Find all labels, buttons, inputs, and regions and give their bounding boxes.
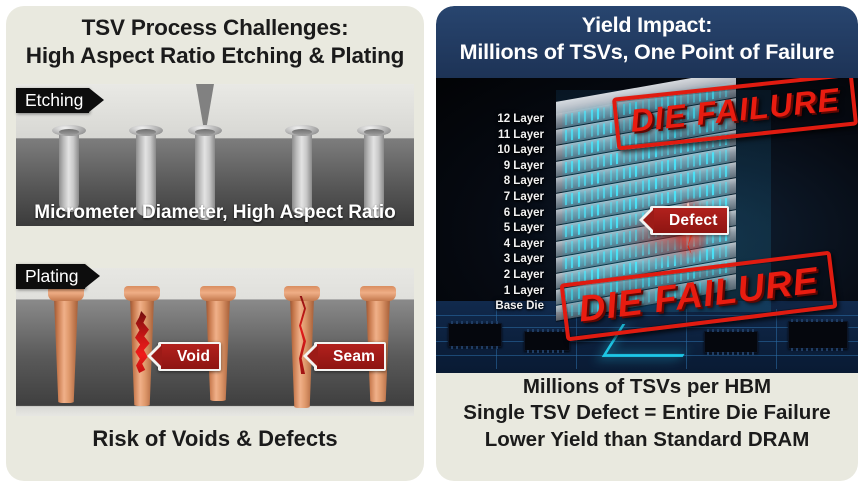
tsv-pillar xyxy=(591,189,593,200)
tsv-pillar xyxy=(597,204,599,215)
tsv-pillar xyxy=(603,107,605,118)
via-overburden-cap xyxy=(360,286,396,301)
tsv-pillar xyxy=(648,195,650,206)
tsv-pillar xyxy=(699,186,701,197)
tsv-pillar xyxy=(629,167,631,178)
tsv-pillar xyxy=(667,144,669,155)
tsv-pillar xyxy=(616,153,618,164)
defect-callout: Defect xyxy=(650,206,729,235)
layer-label: Base Die xyxy=(444,299,544,315)
layer-label: 10 Layer xyxy=(444,143,544,159)
tsv-pillar xyxy=(725,150,727,161)
tsv-pillar xyxy=(603,251,605,262)
void-callout-label: Void xyxy=(177,348,210,366)
tsv-pillar xyxy=(603,267,605,278)
tsv-pillar xyxy=(603,235,605,246)
tsv-pillar xyxy=(661,145,663,156)
tsv-pillar xyxy=(578,224,580,235)
tsv-pillar xyxy=(719,183,721,194)
plating-banner: Plating xyxy=(16,264,85,289)
tsv-pillar xyxy=(706,169,708,180)
callout-arrow-inner-icon xyxy=(643,209,654,231)
tsv-pillar xyxy=(655,146,657,157)
tsv-pillar xyxy=(578,240,580,251)
tsv-pillar xyxy=(687,156,689,167)
tsv-pillar xyxy=(603,139,605,150)
void-callout: Void xyxy=(158,342,221,371)
tsv-pillar xyxy=(597,268,599,279)
tsv-pillar xyxy=(648,147,650,158)
tsv-pillar xyxy=(610,250,612,261)
tsv-pillar xyxy=(635,166,637,177)
via-overburden-cap xyxy=(200,286,236,301)
pcb-chip xyxy=(788,321,848,349)
tsv-pillar xyxy=(591,205,593,216)
tsv-pillar xyxy=(661,193,663,204)
tsv-pillar xyxy=(603,171,605,182)
via-rim xyxy=(188,125,222,136)
tsv-pillar xyxy=(725,246,727,257)
via-rim xyxy=(357,125,391,136)
tsv-pillar xyxy=(712,168,714,179)
etching-banner: Etching xyxy=(16,88,89,113)
right-caption-line-2: Single TSV Defect = Entire Die Failure xyxy=(436,400,858,426)
tsv-pillar xyxy=(571,241,573,252)
tsv-pillar xyxy=(571,193,573,204)
right-caption-line-3: Lower Yield than Standard DRAM xyxy=(436,427,858,453)
via-rim xyxy=(285,125,319,136)
layer-label: 9 Layer xyxy=(444,159,544,175)
tsv-pillar xyxy=(642,164,644,175)
tsv-pillar xyxy=(616,169,618,180)
tsv-pillar xyxy=(578,128,580,139)
tsv-pillar xyxy=(667,176,669,187)
tsv-pillar xyxy=(680,174,682,185)
left-title-line-1: TSV Process Challenges: xyxy=(6,14,424,42)
tsv-pillar xyxy=(610,186,612,197)
tsv-pillar xyxy=(693,187,695,198)
tsv-pillar xyxy=(603,203,605,214)
tsv-pillar xyxy=(623,168,625,179)
via-rim xyxy=(129,125,163,136)
tsv-pillar xyxy=(565,194,567,205)
right-title-line-1: Yield Impact: xyxy=(436,12,858,39)
tsv-pillar xyxy=(725,166,727,177)
tsv-pillar xyxy=(571,161,573,172)
tsv-pillar xyxy=(578,144,580,155)
layer-label: 4 Layer xyxy=(444,237,544,253)
tsv-pillar xyxy=(571,257,573,268)
tsv-pillar xyxy=(565,178,567,189)
tsv-pillar xyxy=(629,151,631,162)
layer-label: 12 Layer xyxy=(444,112,544,128)
tsv-pillar xyxy=(623,152,625,163)
tsv-pillar xyxy=(591,237,593,248)
tsv-pillar xyxy=(591,157,593,168)
tsv-pillar xyxy=(655,194,657,205)
tsv-pillar xyxy=(591,173,593,184)
layer-label: 7 Layer xyxy=(444,190,544,206)
tsv-pillar xyxy=(610,218,612,229)
tsv-pillar xyxy=(584,223,586,234)
tsv-pillar xyxy=(667,160,669,171)
tsv-pillar xyxy=(597,236,599,247)
tsv-pillar xyxy=(699,170,701,181)
tsv-pillar xyxy=(706,185,708,196)
tsv-pillar xyxy=(584,191,586,202)
tsv-pillar xyxy=(725,182,727,193)
via-rim xyxy=(52,125,86,136)
pcb-chip xyxy=(704,331,758,353)
etched-via xyxy=(59,130,79,212)
tsv-pillar xyxy=(584,111,586,122)
callout-arrow-inner-icon xyxy=(307,345,318,367)
right-bottom-caption: Millions of TSVs per HBM Single TSV Defe… xyxy=(436,374,858,453)
tsv-pillar xyxy=(642,148,644,159)
tsv-pillar xyxy=(578,176,580,187)
tsv-pillar xyxy=(571,129,573,140)
hbm-stack-scene: 12 Layer11 Layer10 Layer9 Layer8 Layer7 … xyxy=(436,78,858,373)
layer-label: 11 Layer xyxy=(444,128,544,144)
layer-label: 2 Layer xyxy=(444,268,544,284)
tsv-pillar xyxy=(584,127,586,138)
tsv-pillar xyxy=(584,239,586,250)
tsv-pillar xyxy=(610,154,612,165)
tsv-pillar xyxy=(687,172,689,183)
tsv-pillar xyxy=(674,175,676,186)
tsv-pillar xyxy=(712,184,714,195)
tsv-pillar xyxy=(591,125,593,136)
left-title-line-2: High Aspect Ratio Etching & Plating xyxy=(6,42,424,70)
tsv-pillar xyxy=(565,226,567,237)
tsv-pillar xyxy=(578,160,580,171)
tsv-pillar xyxy=(584,143,586,154)
tsv-pillar xyxy=(584,255,586,266)
tsv-pillar xyxy=(565,242,567,253)
tsv-pillar xyxy=(565,146,567,157)
tsv-pillar xyxy=(578,256,580,267)
pcb-chip xyxy=(448,323,502,347)
tsv-pillar xyxy=(565,162,567,173)
infographic-slide: TSV Process Challenges: High Aspect Rati… xyxy=(0,0,864,487)
tsv-pillar xyxy=(603,187,605,198)
tsv-pillar xyxy=(616,265,618,276)
tsv-pillar xyxy=(597,220,599,231)
tsv-pillar xyxy=(571,145,573,156)
tsv-pillar xyxy=(584,175,586,186)
tsv-pillar xyxy=(648,179,650,190)
tsv-pillar xyxy=(616,185,618,196)
left-panel: TSV Process Challenges: High Aspect Rati… xyxy=(6,6,424,481)
left-bottom-caption: Risk of Voids & Defects xyxy=(6,426,424,452)
via-copper-fill xyxy=(54,298,78,403)
banner-arrow-icon xyxy=(85,264,100,288)
tsv-pillar xyxy=(719,151,721,162)
tsv-pillar xyxy=(706,153,708,164)
tsv-pillar xyxy=(565,210,567,221)
tsv-pillar xyxy=(661,161,663,172)
layer-label-list: 12 Layer11 Layer10 Layer9 Layer8 Layer7 … xyxy=(444,112,544,315)
seam-callout-label: Seam xyxy=(333,348,375,366)
tsv-pillar xyxy=(610,234,612,245)
tsv-pillar xyxy=(571,225,573,236)
tsv-pillar xyxy=(648,163,650,174)
tsv-pillar xyxy=(661,177,663,188)
seam-callout: Seam xyxy=(314,342,386,371)
right-caption-line-1: Millions of TSVs per HBM xyxy=(436,374,858,400)
tsv-pillar xyxy=(680,158,682,169)
tsv-pillar xyxy=(603,155,605,166)
tsv-pillar xyxy=(712,152,714,163)
via-overburden-cap xyxy=(124,286,160,301)
tsv-pillar xyxy=(635,182,637,193)
layer-label: 1 Layer xyxy=(444,284,544,300)
etching-caption: Micrometer Diameter, High Aspect Ratio xyxy=(16,202,414,224)
tsv-pillar xyxy=(578,208,580,219)
tsv-pillar xyxy=(610,202,612,213)
layer-label: 8 Layer xyxy=(444,174,544,190)
tsv-pillar xyxy=(693,171,695,182)
tsv-pillar xyxy=(584,207,586,218)
tsv-pillar xyxy=(591,221,593,232)
tsv-pillar xyxy=(565,114,567,125)
tsv-pillar xyxy=(578,192,580,203)
tsv-pillar xyxy=(597,172,599,183)
tsv-pillar xyxy=(693,155,695,166)
defect-callout-label: Defect xyxy=(669,212,718,230)
etching-banner-label: Etching xyxy=(25,90,83,111)
layer-label: 6 Layer xyxy=(444,206,544,222)
tsv-pillar xyxy=(635,150,637,161)
tsv-pillar xyxy=(719,247,721,258)
tsv-pillar xyxy=(597,188,599,199)
tsv-pillar xyxy=(674,159,676,170)
tsv-pillar xyxy=(603,123,605,134)
tsv-pillar xyxy=(597,140,599,151)
tsv-pillar xyxy=(667,192,669,203)
tsv-pillar xyxy=(610,122,612,133)
pcb-chip xyxy=(524,331,570,351)
tsv-pillar xyxy=(610,170,612,181)
tsv-pillar xyxy=(571,209,573,220)
tsv-pillar xyxy=(597,156,599,167)
tsv-pillar xyxy=(571,177,573,188)
plating-banner-label: Plating xyxy=(25,266,79,287)
right-title-line-2: Millions of TSVs, One Point of Failure xyxy=(436,39,858,66)
tsv-pillar xyxy=(603,219,605,230)
right-panel-title: Yield Impact: Millions of TSVs, One Poin… xyxy=(436,12,858,66)
tsv-pillar xyxy=(584,159,586,170)
tsv-pillar xyxy=(578,112,580,123)
tsv-pillar xyxy=(610,266,612,277)
tsv-pillar xyxy=(642,180,644,191)
layer-label: 3 Layer xyxy=(444,252,544,268)
tsv-pillar xyxy=(655,162,657,173)
tsv-pillar xyxy=(655,178,657,189)
tsv-pillar xyxy=(597,252,599,263)
tsv-pillar xyxy=(712,248,714,259)
tsv-pillar xyxy=(719,167,721,178)
tsv-pillar xyxy=(699,154,701,165)
callout-arrow-inner-icon xyxy=(151,345,162,367)
banner-arrow-icon xyxy=(89,88,104,112)
right-panel: Yield Impact: Millions of TSVs, One Poin… xyxy=(436,6,858,481)
tsv-pillar xyxy=(623,184,625,195)
tsv-pillar xyxy=(591,109,593,120)
tsv-pillar xyxy=(565,258,567,269)
left-panel-title: TSV Process Challenges: High Aspect Rati… xyxy=(6,14,424,69)
layer-label: 5 Layer xyxy=(444,221,544,237)
tsv-pillar xyxy=(565,130,567,141)
tsv-pillar xyxy=(591,253,593,264)
tsv-pillar xyxy=(571,113,573,124)
tsv-pillar xyxy=(610,106,612,117)
tsv-pillar xyxy=(597,108,599,119)
tsv-pillar xyxy=(610,138,612,149)
tsv-pillar xyxy=(629,183,631,194)
tsv-pillar xyxy=(591,141,593,152)
tsv-pillar xyxy=(597,124,599,135)
